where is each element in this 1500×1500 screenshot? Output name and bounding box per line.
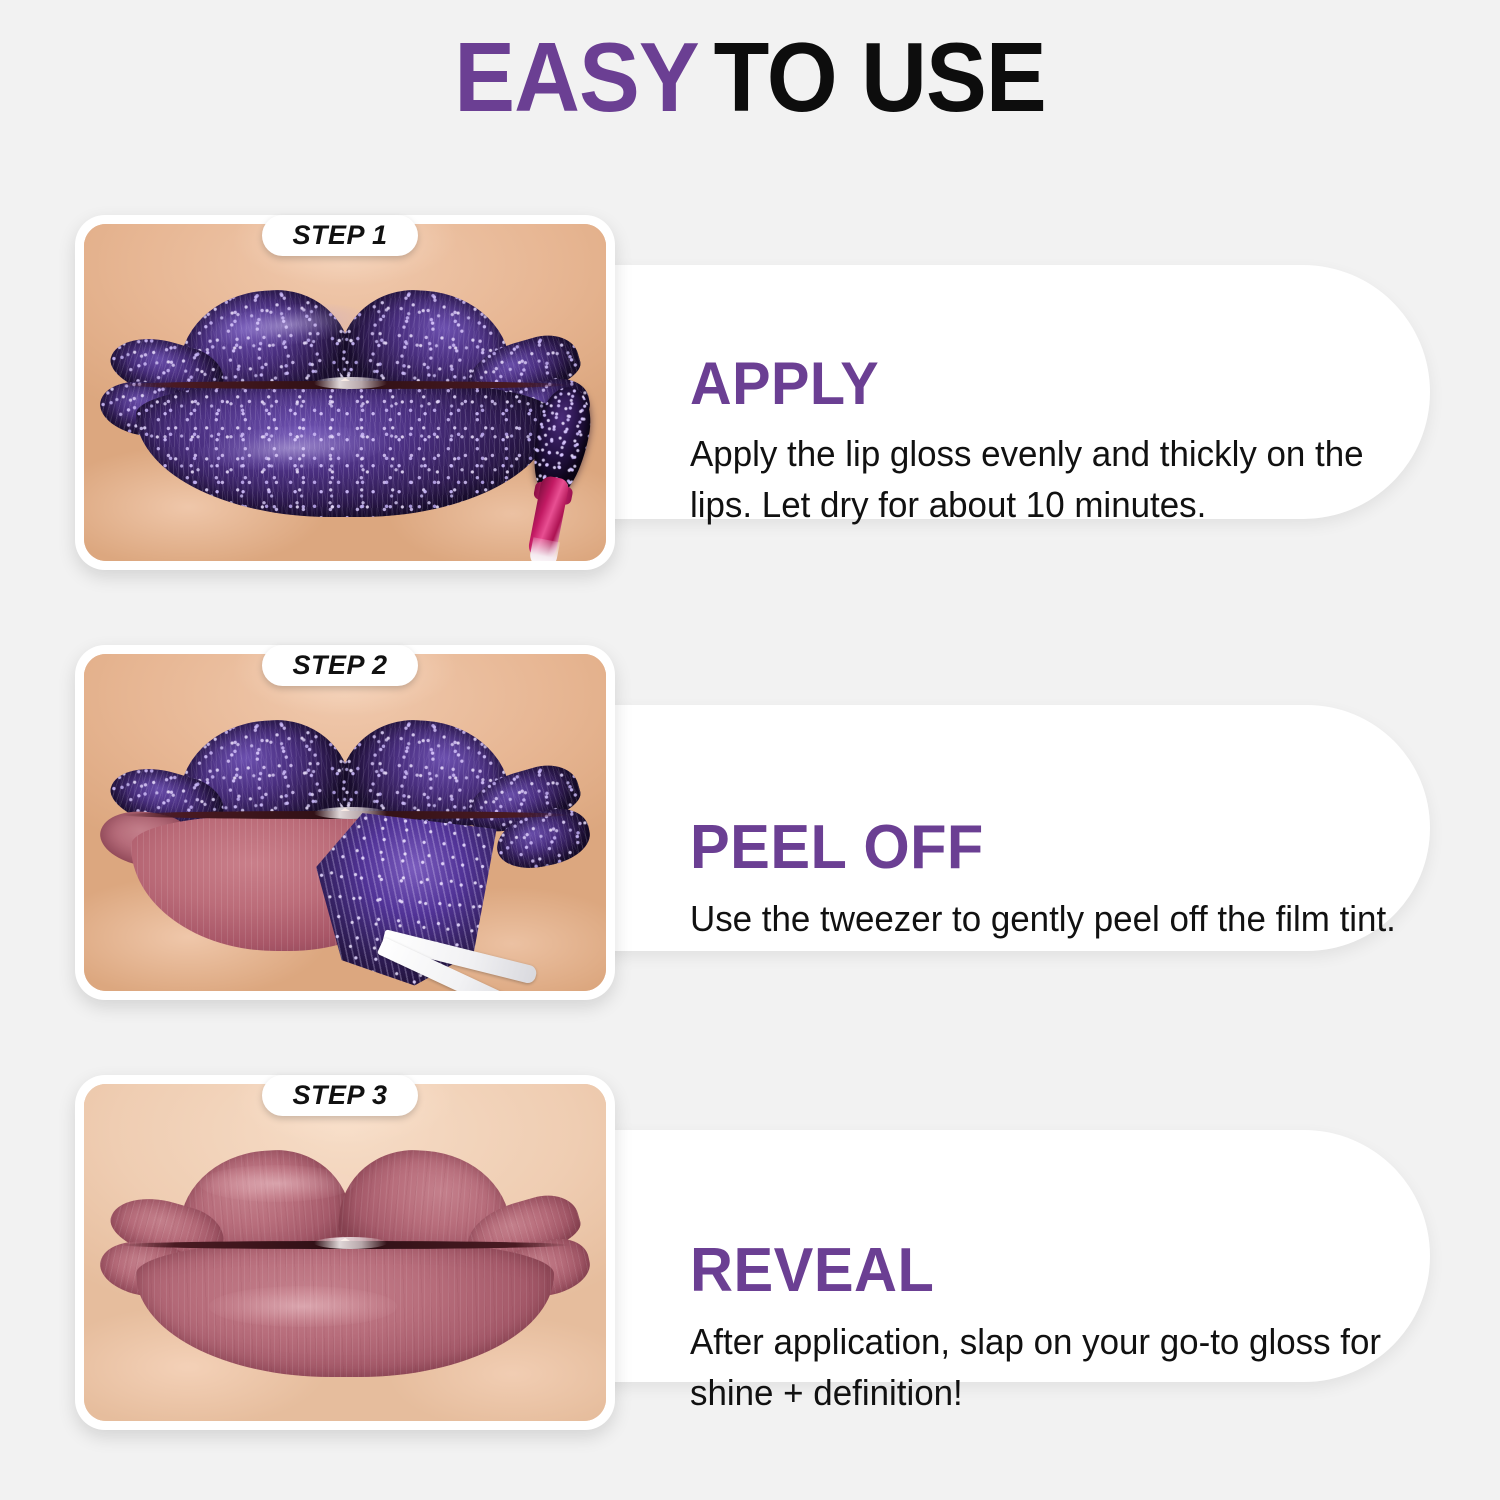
step-badge-2: STEP 2 — [262, 645, 418, 686]
page-title-rest: TO USE — [714, 22, 1046, 132]
step-badge-label-1: STEP 1 — [292, 220, 387, 251]
page-title: EASYTO USE — [53, 28, 1448, 126]
page-title-accent: EASY — [454, 22, 698, 132]
step-badge-1: STEP 1 — [262, 215, 418, 256]
step-badge-3: STEP 3 — [262, 1075, 418, 1116]
step-heading-3: REVEAL — [690, 1240, 1420, 1302]
step-photo-1 — [84, 224, 606, 561]
step-image-card-1: STEP 1 — [75, 215, 615, 570]
infographic-root: EASYTO USE APPLY Apply the lip gloss eve… — [0, 0, 1500, 1500]
step-body-2: Use the tweezer to gently peel off the f… — [690, 893, 1427, 944]
step-photo-3 — [84, 1084, 606, 1421]
step-body-3: After application, slap on your go-to gl… — [690, 1316, 1427, 1418]
lips-rose-tint — [84, 1084, 606, 1421]
step-heading-2: PEEL OFF — [690, 817, 1420, 879]
step-badge-label-2: STEP 2 — [292, 650, 387, 681]
step-image-card-3: STEP 3 — [75, 1075, 615, 1430]
step-heading-1: APPLY — [690, 354, 1420, 414]
step-badge-label-3: STEP 3 — [292, 1080, 387, 1111]
step-photo-2 — [84, 654, 606, 991]
step-body-1: Apply the lip gloss evenly and thickly o… — [690, 428, 1427, 530]
lips-peeling-film — [84, 654, 606, 991]
step-image-card-2: STEP 2 — [75, 645, 615, 1000]
